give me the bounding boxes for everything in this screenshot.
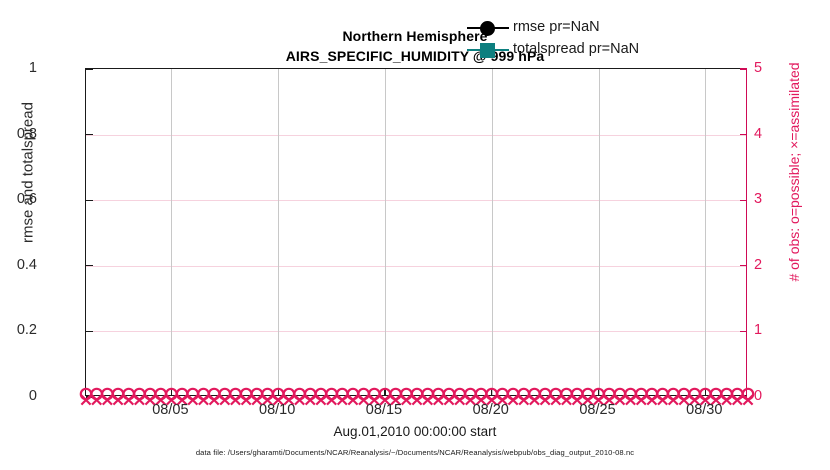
legend-swatch	[465, 17, 511, 37]
gridline-horizontal	[86, 135, 746, 136]
tick-mark-y-right	[740, 265, 747, 266]
tick-mark-x	[705, 389, 706, 396]
tick-label-x: 08/10	[237, 402, 317, 418]
legend-label: totalspread pr=NaN	[511, 41, 639, 57]
plot-area[interactable]	[85, 68, 747, 396]
legend-item[interactable]: totalspread pr=NaN	[465, 38, 639, 60]
tick-mark-x	[278, 389, 279, 396]
tick-mark-y-left	[86, 200, 93, 201]
square-marker-icon	[480, 43, 495, 58]
page-title: Northern Hemisphere	[0, 26, 830, 46]
x-axis-title: Aug.01,2010 00:00:00 start	[0, 424, 830, 439]
gridline-horizontal	[86, 200, 746, 201]
observation-markers	[86, 69, 746, 395]
tick-mark-x	[491, 389, 492, 396]
chart-legend[interactable]: rmse pr=NaNtotalspread pr=NaN	[465, 14, 639, 62]
gridline-vertical	[278, 69, 279, 395]
legend-item[interactable]: rmse pr=NaN	[465, 16, 639, 38]
tick-mark-y-left	[86, 396, 93, 397]
tick-mark-y-left	[86, 265, 93, 266]
tick-mark-y-left	[86, 68, 93, 69]
gridline-horizontal	[86, 331, 746, 332]
y-axis-right-title: # of obs: o=possible; ×=assimilated	[786, 0, 802, 452]
tick-label-x: 08/05	[130, 402, 210, 418]
tick-mark-y-right	[740, 134, 747, 135]
tick-mark-y-left	[86, 331, 93, 332]
gridline-vertical	[171, 69, 172, 395]
circle-marker-icon	[480, 21, 495, 36]
gridline-horizontal	[86, 266, 746, 267]
tick-mark-x	[384, 389, 385, 396]
gridline-vertical	[385, 69, 386, 395]
tick-label-x: 08/20	[451, 402, 531, 418]
tick-mark-x	[598, 389, 599, 396]
tick-label-x: 08/15	[344, 402, 424, 418]
tick-mark-y-right	[740, 68, 747, 69]
tick-label-x: 08/25	[558, 402, 638, 418]
gridline-vertical	[599, 69, 600, 395]
legend-label: rmse pr=NaN	[511, 19, 600, 35]
tick-mark-y-right	[740, 331, 747, 332]
chart-title-block: Northern Hemisphere AIRS_SPECIFIC_HUMIDI…	[0, 26, 830, 66]
tick-label-x: 08/30	[664, 402, 744, 418]
y-axis-left-title: rmse and totalspread	[20, 0, 37, 453]
tick-mark-x	[171, 389, 172, 396]
tick-mark-y-right	[740, 396, 747, 397]
legend-swatch	[465, 39, 511, 59]
chart-subtitle: AIRS_SPECIFIC_HUMIDITY @ 999 hPa	[0, 46, 830, 66]
gridline-vertical	[705, 69, 706, 395]
tick-mark-y-right	[740, 200, 747, 201]
gridline-vertical	[492, 69, 493, 395]
tick-mark-y-left	[86, 134, 93, 135]
data-file-caption: data file: /Users/gharamti/Documents/NCA…	[0, 448, 830, 457]
